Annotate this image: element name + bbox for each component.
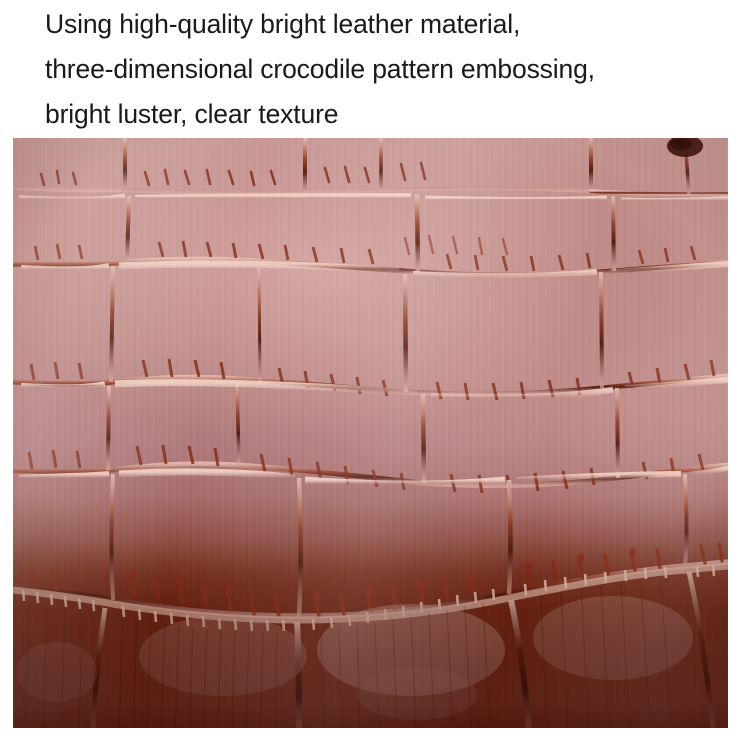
scale-row-5 xyxy=(13,468,728,616)
crocodile-scale-pattern xyxy=(13,138,728,728)
caption-line-1: Using high-quality bright leather materi… xyxy=(45,2,735,47)
caption-line-3: bright luster, clear texture xyxy=(45,92,735,137)
leather-photo-inner xyxy=(13,138,728,728)
caption-line-2: three-dimensional crocodile pattern embo… xyxy=(45,47,735,92)
product-description-caption: Using high-quality bright leather materi… xyxy=(45,2,735,137)
leather-blemish-spot xyxy=(667,138,703,157)
scale-row-3 xyxy=(13,264,728,400)
leather-texture-photo xyxy=(13,138,728,728)
